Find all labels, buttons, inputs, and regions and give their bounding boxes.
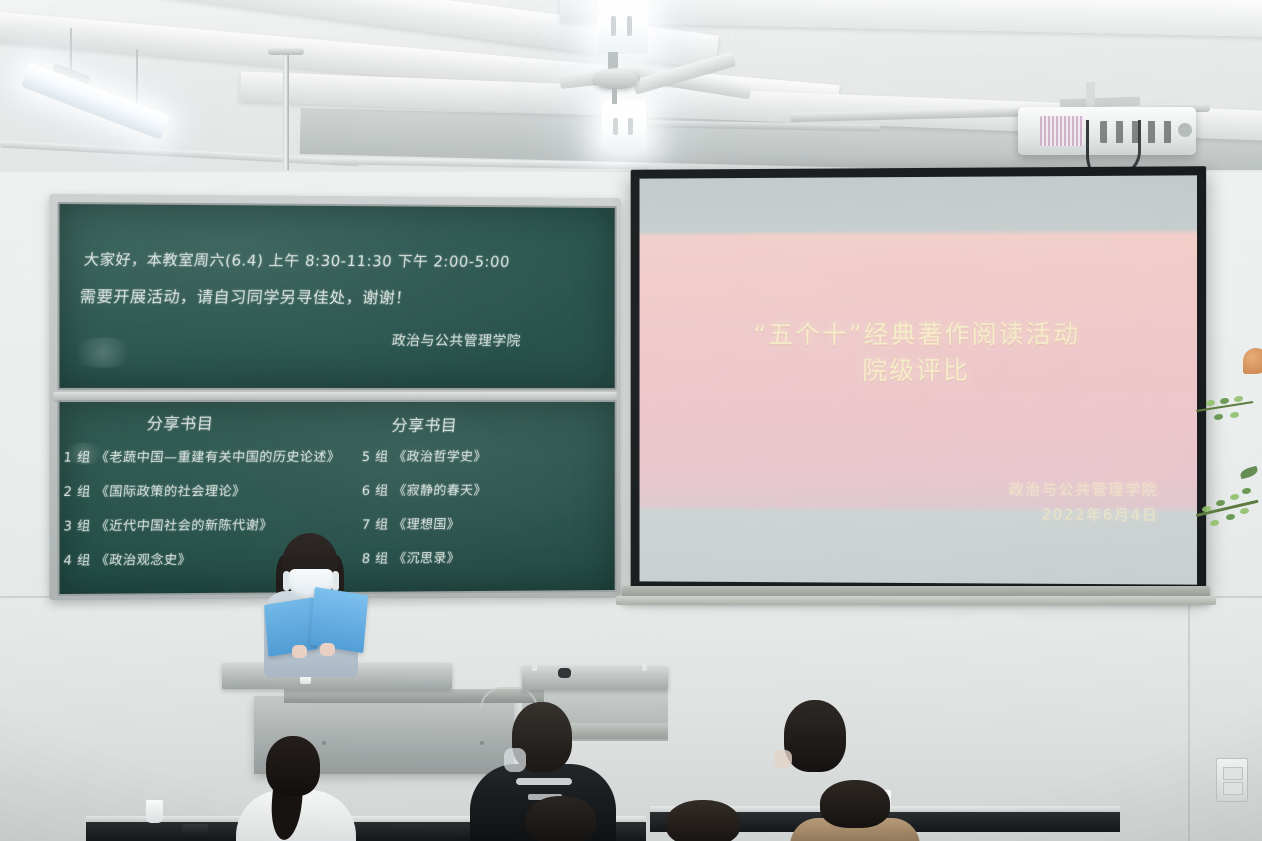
audience-ear [774, 750, 792, 768]
book-list-item: 1 组 《老蔬中国—重建有关中国的历史论述》 [63, 446, 342, 466]
box-lamp [602, 100, 646, 150]
projector-vent [1040, 116, 1084, 146]
book-list-item: 6 组 《寂静的春天》 [361, 480, 488, 499]
projector-mount-arm [1086, 82, 1095, 108]
book-list-item: 8 组 《沉思录》 [361, 547, 461, 567]
slide-title-line2: 院级评比 [640, 352, 1198, 388]
audience-head [266, 736, 320, 796]
book-list-item: 2 组 《国际政策的社会理论》 [63, 480, 247, 500]
screen-lower-rail [616, 596, 1216, 605]
audience-member-4 [504, 796, 616, 841]
fan-stem [612, 88, 617, 104]
book-list-item: 5 组 《政治哲学史》 [361, 446, 488, 465]
microphone-ceiling-plate [268, 48, 304, 55]
classroom-photo: 大家好，本教室周六(6.4) 上午 8:30-11:30 下午 2:00-5:0… [0, 0, 1262, 841]
audience-head [666, 800, 740, 841]
blackboard-heading-left: 分享书目 [146, 410, 215, 434]
audience-head [784, 700, 846, 772]
audience-member-6 [790, 780, 920, 841]
wall-power-box[interactable] [1216, 758, 1248, 802]
lantern-decal-icon [1243, 348, 1262, 374]
box-lamp [598, 0, 648, 54]
blackboard-notice-signature: 政治与公共管理学院 [391, 330, 522, 350]
blackboard-notice-line2: 需要开展活动，请自习同学另寻佳处，谢谢！ [79, 283, 413, 308]
podium-top-right [522, 666, 668, 690]
audience-member-1 [236, 736, 356, 841]
blackboard-upper-panel: 大家好，本教室周六(6.4) 上午 8:30-11:30 下午 2:00-5:0… [57, 202, 616, 390]
slide-footer: 政治与公共管理学院 2022年6月4日 [1009, 477, 1159, 527]
ceiling-fan [594, 70, 638, 89]
slide-footer-org: 政治与公共管理学院 [1009, 477, 1159, 502]
projection-screen: “五个十”经典著作阅读活动 院级评比 政治与公共管理学院 2022年6月4日 [631, 166, 1206, 594]
paper-cup [146, 800, 163, 823]
blue-folder [310, 587, 369, 653]
projector-lens [1178, 123, 1192, 137]
slide-title: “五个十”经典著作阅读活动 院级评比 [640, 316, 1198, 388]
audience-head [820, 780, 890, 828]
face-mask [504, 748, 526, 772]
smartphone [182, 824, 208, 836]
polo-collar [516, 778, 572, 785]
audience-head [526, 796, 596, 841]
slide-footer-date: 2022年6月4日 [1009, 502, 1159, 527]
book-list-item: 7 组 《理想国》 [361, 513, 461, 532]
presenter-hand [320, 643, 335, 656]
wall-seam [1188, 600, 1190, 841]
book-list-item: 3 组 《近代中国社会的新陈代谢》 [63, 514, 274, 534]
blackboard-heading-right: 分享书目 [391, 412, 459, 436]
book-list-item: 4 组 《政治观念史》 [63, 549, 193, 569]
slide-title-line1: “五个十”经典著作阅读活动 [640, 316, 1198, 352]
presenter-hand [292, 645, 307, 658]
blackboard-notice-line1: 大家好，本教室周六(6.4) 上午 8:30-11:30 下午 2:00-5:0… [83, 249, 511, 272]
screen-surface: “五个十”经典著作阅读活动 院级评比 政治与公共管理学院 2022年6月4日 [640, 175, 1198, 584]
podium-knob[interactable] [558, 668, 571, 678]
audience-member-5 [648, 800, 758, 841]
presenter [256, 533, 366, 673]
blue-folder [264, 597, 318, 657]
